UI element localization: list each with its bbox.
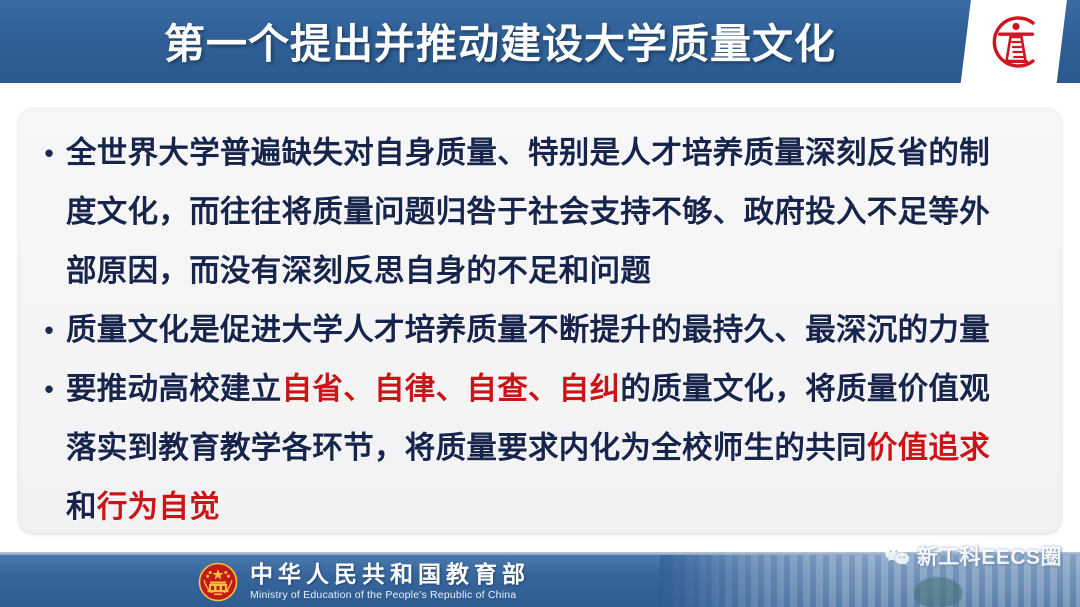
highlighted-text-run: 行为自觉 [97,490,220,524]
bullet-line: 要推动高校建立自省、自律、自查、自纠的质量文化，将质量价值观 [66,360,1052,419]
slide-header-bar: 第一个提出并推动建设大学质量文化 [0,0,1080,86]
national-emblem-china-icon [198,562,238,602]
list-item: • 全世界大学普遍缺失对自身质量、特别是人才培养质量深刻反省的制 度文化，而往往… [32,124,1052,301]
bullet-marker: • [32,124,66,183]
ministry-name-en: Ministry of Education of the People's Re… [250,588,530,602]
bullet-text: 全世界大学普遍缺失对自身质量、特别是人才培养质量深刻反省的制 度文化，而往往将质… [66,124,1052,301]
ministry-of-education-branding: 中华人民共和国教育部 Ministry of Education of the … [198,558,530,606]
highlighted-text-run: 自省、自律、自查、自纠 [282,372,621,406]
bullet-text: 要推动高校建立自省、自律、自查、自纠的质量文化，将质量价值观 落实到教育教学各环… [66,360,1052,537]
presentation-slide: 第一个提出并推动建设大学质量文化 [0,0,1080,607]
text-run: 和 [66,490,97,524]
tree-decoration [914,577,962,607]
wechat-watermark: 新工科EECS圈 [884,541,1062,571]
bullet-marker: • [32,360,66,419]
text-run: 质量文化是促进大学人才培养质量不断提升的最持久、最深沉的力量 [66,313,990,347]
text-run: 全世界大学普遍缺失对自身质量、特别是人才培养质量深刻反省的制 [66,136,990,170]
bullet-line: 落实到教育教学各环节，将质量要求内化为全校师生的共同价值追求 [66,419,1052,478]
bullet-marker: • [32,301,66,360]
bullet-list: • 全世界大学普遍缺失对自身质量、特别是人才培养质量深刻反省的制 度文化，而往往… [32,124,1052,537]
text-run: 的质量文化，将质量价值观 [620,372,990,406]
content-panel: • 全世界大学普遍缺失对自身质量、特别是人才培养质量深刻反省的制 度文化，而往往… [18,108,1062,534]
list-item: • 要推动高校建立自省、自律、自查、自纠的质量文化，将质量价值观 落实到教育教学… [32,360,1052,537]
bullet-line: 部原因，而没有深刻反思自身的不足和问题 [66,242,1052,301]
watermark-text: 新工科EECS圈 [917,541,1062,571]
list-item: • 质量文化是促进大学人才培养质量不断提升的最持久、最深沉的力量 [32,301,1052,360]
bullet-line: 质量文化是促进大学人才培养质量不断提升的最持久、最深沉的力量 [66,301,1052,360]
ministry-text-block: 中华人民共和国教育部 Ministry of Education of the … [250,562,530,602]
tianjin-university-emblem-icon [980,6,1052,78]
text-run: 要推动高校建立 [66,372,282,406]
text-run: 度文化，而往往将质量问题归咎于社会支持不够、政府投入不足等外 [66,195,990,229]
bullet-text: 质量文化是促进大学人才培养质量不断提升的最持久、最深沉的力量 [66,301,1052,360]
highlighted-text-run: 价值追求 [867,431,990,465]
bullet-line: 全世界大学普遍缺失对自身质量、特别是人才培养质量深刻反省的制 [66,124,1052,183]
text-run: 部原因，而没有深刻反思自身的不足和问题 [66,254,651,288]
bullet-line: 和行为自觉 [66,478,1052,537]
bullet-line: 度文化，而往往将质量问题归咎于社会支持不够、政府投入不足等外 [66,183,1052,242]
ministry-name-cn: 中华人民共和国教育部 [250,562,530,588]
slide-title: 第一个提出并推动建设大学质量文化 [0,0,1000,80]
wechat-icon [884,545,910,567]
text-run: 落实到教育教学各环节，将质量要求内化为全校师生的共同 [66,431,867,465]
